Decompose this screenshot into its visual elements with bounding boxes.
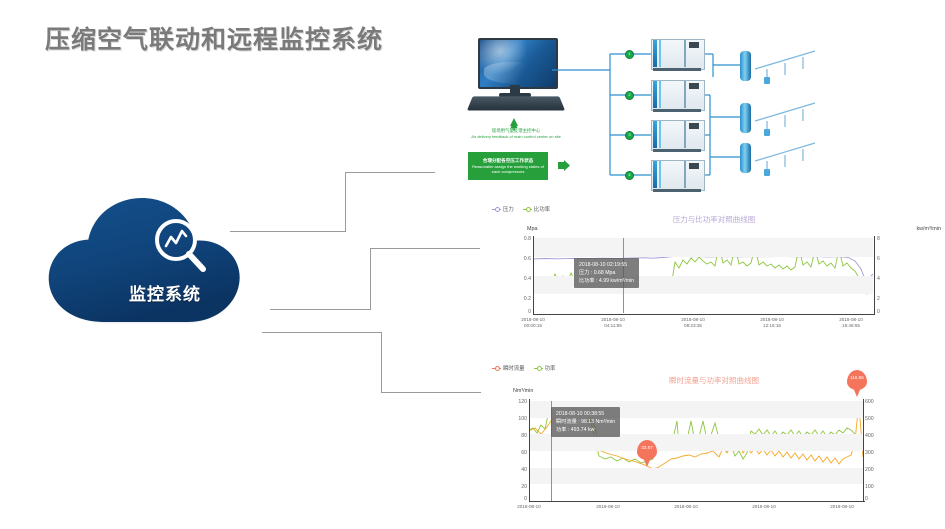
marker-value: 33.87 [633, 445, 661, 450]
chart2-ytick: 120 [505, 399, 527, 405]
chart1-ytick: 0.4 [511, 276, 531, 282]
tooltip-line-1: 压力 : 0.68 Mpa [579, 269, 634, 277]
legend-label: 压力 [503, 205, 514, 213]
connector-line-top-end [345, 172, 435, 173]
marker-tip-shape [852, 385, 862, 397]
chart2-legend[interactable]: 瞬时流量 功率 [492, 364, 555, 372]
chart2-xtick: 2018-08-10 [499, 504, 559, 510]
legend-label: 比功率 [534, 205, 550, 213]
chart2-ytick: 60 [505, 450, 527, 456]
chart1-ytick: 0.6 [511, 256, 531, 262]
chart1-y2-unit: kw/m³/min [916, 226, 941, 232]
tooltip-line-2: 功率 : 493.74 kw [556, 426, 615, 434]
marker-value: 118.55 [843, 375, 871, 380]
legend-item-specific-power[interactable]: 比功率 [523, 205, 550, 213]
chart2-ytick: 0 [505, 496, 527, 502]
chart2-tooltip: 2018-08-10 00:38:55 瞬时流量 : 98.13 Nm³/min… [551, 407, 620, 437]
chart1-y2tick: 2 [877, 296, 897, 302]
compressor-unit [651, 158, 703, 192]
pipe-node-4: 4 [625, 171, 634, 180]
air-storage-tank [740, 143, 751, 173]
pipe-node-3: 3 [625, 131, 634, 140]
legend-label: 功率 [545, 364, 556, 372]
chart2-x-axis [529, 501, 865, 502]
legend-item-pressure[interactable]: 压力 [492, 205, 514, 213]
chart1-x-axis [533, 314, 875, 315]
tooltip-line-1: 瞬时流量 : 98.13 Nm³/min [556, 418, 615, 426]
chart2-y-unit: Nm³/min [513, 388, 533, 394]
chart1-title: 压力与比功率对照曲线图 [483, 214, 945, 225]
compressor-unit [651, 37, 703, 71]
legend-item-flow[interactable]: 瞬时流量 [492, 364, 525, 372]
chart2-xtick: 2018-08-10 [812, 504, 872, 510]
legend-dash-icon [534, 368, 543, 369]
chart1-xtick: 2018-08-10 12:15:15 [742, 317, 802, 328]
chart2-ytick: 100 [505, 416, 527, 422]
connector-line-mid-riser [370, 248, 371, 310]
chart2-y-axis [529, 399, 530, 502]
plot-band [529, 468, 863, 485]
chart1-y2tick: 6 [877, 256, 897, 262]
plot-band [533, 238, 873, 257]
pipe-node-1: 1 [625, 50, 634, 59]
legend-item-power[interactable]: 功率 [534, 364, 556, 372]
tooltip-time: 2018-08-10 02:19:55 [579, 261, 634, 269]
chart2-y2tick: 500 [865, 416, 887, 422]
connector-line-mid-end [370, 248, 480, 249]
chart2-title: 瞬时流量与功率对照曲线图 [483, 375, 945, 386]
chart1-xtick: 2018-08-10 16:46:55 [821, 317, 881, 328]
legend-dash-icon [523, 209, 532, 210]
chart1-xtick: 2018-08-10 08:23:35 [663, 317, 723, 328]
chart2-y2tick: 300 [865, 450, 887, 456]
chart1-xtick: 2018-08-10 00:00:15 [503, 317, 563, 328]
legend-label: 瞬时流量 [503, 364, 525, 372]
magnifier-chart-icon [152, 216, 208, 274]
pipe-node-2: 2 [625, 91, 634, 100]
chart1-legend[interactable]: 压力 比功率 [492, 205, 550, 213]
air-storage-tank [740, 51, 751, 81]
page-title: 压缩空气联动和远程监控系统 [45, 20, 383, 56]
tooltip-time: 2018-08-10 00:38:55 [556, 410, 615, 418]
compressor-unit [651, 78, 703, 112]
chart1-y2tick: 8 [877, 236, 897, 242]
slide-canvas: 压缩空气联动和远程监控系统 监控系统 [0, 0, 945, 529]
chart1-y-unit: Mpa [527, 226, 538, 232]
chart2-y2tick: 100 [865, 484, 887, 490]
chart2-xtick: 2018-08-10 [734, 504, 794, 510]
chart2-y2tick: 600 [865, 399, 887, 405]
cloud-label: 监控系统 [40, 280, 290, 305]
chart-flow-power[interactable]: 瞬时流量 功率 瞬时流量与功率对照曲线图 Nm³/min 120 100 80 … [483, 362, 945, 529]
chart1-tooltip: 2018-08-10 02:19:55 压力 : 0.68 Mpa 比功率 : … [574, 258, 639, 288]
chart-pressure-specific-power[interactable]: 压力 比功率 压力与比功率对照曲线图 Mpa kw/m³/min 0.8 0.6… [483, 203, 945, 331]
chart2-y2tick: 400 [865, 433, 887, 439]
chart2-ytick: 80 [505, 433, 527, 439]
connector-line-bottom-riser [381, 332, 382, 393]
chart2-xtick: 2018-08-10 [656, 504, 716, 510]
system-schematic-diagram: 现场用气量反馈主控中心 Air delivery feedback of mai… [455, 25, 945, 200]
chart2-y2-axis [863, 399, 864, 502]
chart1-ytick: 0.8 [511, 236, 531, 242]
air-storage-tank [740, 103, 751, 133]
legend-dash-icon [492, 209, 501, 210]
chart1-y-axis [533, 236, 534, 315]
chart1-y2tick: 4 [877, 276, 897, 282]
chart1-ytick: 0.2 [511, 296, 531, 302]
connector-line-bottom [262, 332, 382, 333]
compressor-unit [651, 118, 703, 152]
connector-line-bottom-end [381, 392, 481, 393]
connector-line-top-riser [345, 172, 346, 232]
chart2-xtick: 2018-08-10 [578, 504, 638, 510]
chart1-xtick: 2018-08-10 04:11:55 [583, 317, 643, 328]
tooltip-line-2: 比功率 : 4.99 kw/m³/min [579, 277, 634, 285]
legend-dash-icon [492, 368, 501, 369]
chart1-ytick: 0 [511, 309, 531, 315]
chart1-y2-axis [874, 236, 875, 315]
chart2-ytick: 40 [505, 467, 527, 473]
chart1-y2tick: 0 [877, 309, 897, 315]
chart2-y2tick: 200 [865, 467, 887, 473]
chart2-ytick: 20 [505, 484, 527, 490]
monitoring-cloud[interactable]: 监控系统 [40, 196, 290, 326]
chart2-y2tick: 0 [865, 496, 887, 502]
